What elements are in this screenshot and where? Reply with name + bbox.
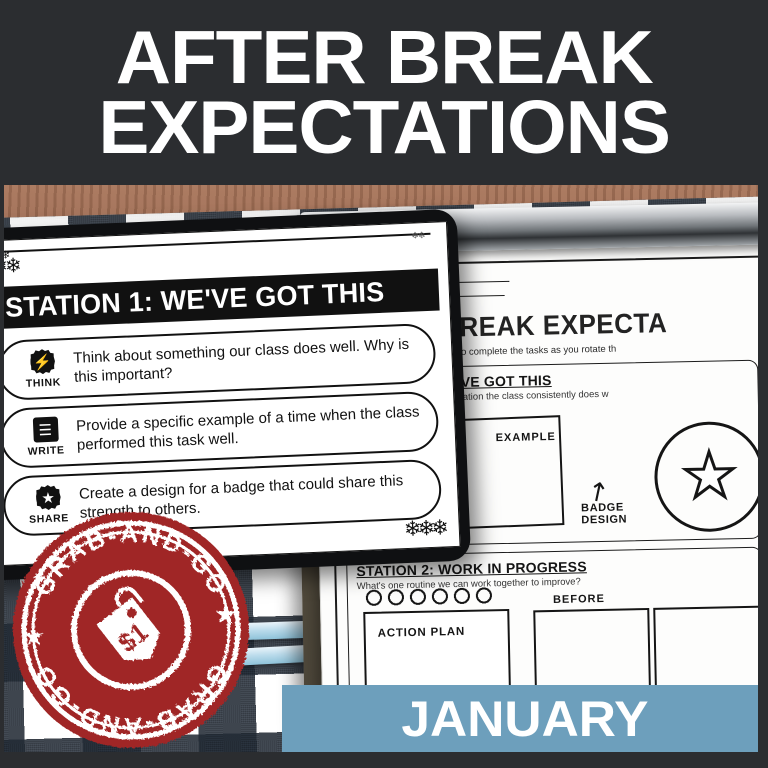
task-row-write: ☰ WRITE Provide a specific example of a … bbox=[0, 391, 440, 469]
right-frame-edge bbox=[758, 185, 768, 768]
write-icon-group: ☰ WRITE bbox=[14, 416, 78, 459]
snowflake-icon: ❄❄❄ bbox=[404, 517, 446, 540]
before-label: BEFORE bbox=[553, 593, 605, 606]
title-banner: AFTER BREAK EXPECTATIONS bbox=[0, 0, 768, 185]
badge-label-line1: BADGE bbox=[581, 502, 624, 515]
title-line-2: EXPECTATIONS bbox=[98, 93, 669, 163]
product-photo: Name: Date: AFTER BREAK EXPECTA Directio… bbox=[0, 185, 768, 768]
example-label: EXAMPLE bbox=[496, 431, 556, 444]
snowflake-icon: ❄❄ bbox=[411, 231, 424, 241]
lightning-badge-icon: ⚡ bbox=[29, 349, 55, 375]
product-thumbnail: AFTER BREAK EXPECTATIONS Name: Date: AFT… bbox=[0, 0, 768, 768]
notepad-icon: ☰ bbox=[32, 417, 58, 443]
task-row-think: ⚡ THINK Think about something our class … bbox=[0, 323, 437, 401]
bottom-frame-edge bbox=[0, 752, 768, 768]
action-plan-label: ACTION PLAN bbox=[378, 626, 466, 640]
grab-and-go-stamp: GRAB-AND-GO GRAB-AND-GO ★ ★ $1 bbox=[6, 505, 256, 755]
task-text-think: Think about something our class does wel… bbox=[73, 333, 434, 387]
think-icon-group: ⚡ THINK bbox=[11, 348, 75, 391]
task-label-think: THINK bbox=[26, 376, 62, 389]
month-banner: JANUARY bbox=[282, 685, 768, 752]
task-label-write: WRITE bbox=[28, 444, 65, 458]
task-text-write: Provide a specific example of a time whe… bbox=[76, 401, 437, 455]
spiral-binding-icon bbox=[365, 586, 495, 607]
star-icon: ★ bbox=[22, 621, 45, 651]
badge-design-label: BADGE DESIGN bbox=[581, 501, 627, 526]
month-label: JANUARY bbox=[401, 690, 648, 748]
title-line-1: AFTER BREAK bbox=[115, 23, 652, 93]
slide-station-title: STATION 1: WE'VE GOT THIS bbox=[4, 276, 384, 323]
left-frame-edge bbox=[0, 185, 4, 768]
badge-label-line2: DESIGN bbox=[581, 514, 627, 527]
star-icon: ★ bbox=[681, 445, 738, 508]
slide-top-rule bbox=[0, 233, 430, 254]
star-icon: ★ bbox=[214, 599, 237, 629]
badge-design-circle: ★ bbox=[653, 421, 761, 533]
slide-station-title-bar: STATION 1: WE'VE GOT THIS bbox=[0, 269, 440, 330]
